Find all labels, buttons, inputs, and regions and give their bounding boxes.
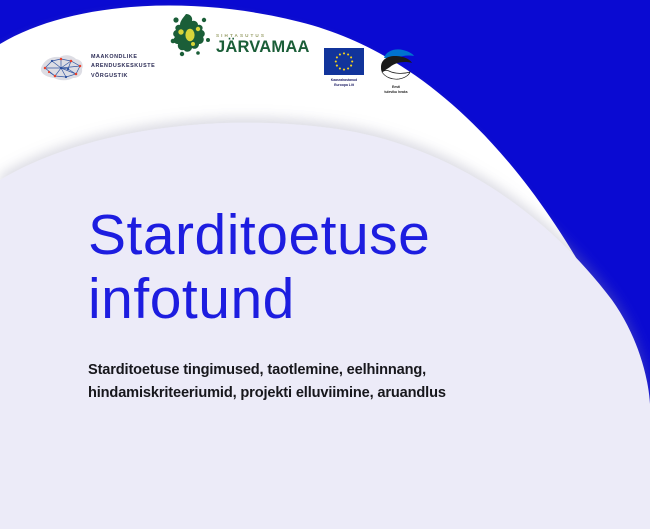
slide-headline: Starditoetuse infotund bbox=[88, 204, 558, 332]
eu-funding-logo: Kaasrahastanud Euroopa Liit bbox=[324, 48, 364, 88]
european-union-flag-icon bbox=[324, 48, 364, 75]
slide-subheadline: Starditoetuse tingimused, taotlemine, ee… bbox=[88, 359, 558, 405]
estonia-network-map-icon bbox=[38, 49, 86, 85]
title-slide: MAAKONDLIKE ARENDUSKESKUSTE VÕRGUSTIK bbox=[0, 0, 650, 529]
estonia-funding-logo: Eesti tuleviku heaks bbox=[376, 48, 416, 95]
jarvamaa-wordmark: SIHTASUTUS JÄRVAMAA bbox=[216, 9, 310, 58]
jarvamaa-logo: SIHTASUTUS JÄRVAMAA bbox=[168, 9, 310, 58]
estonia-funding-caption: Eesti tuleviku heaks bbox=[384, 85, 407, 95]
funding-logos: Kaasrahastanud Euroopa Liit Eesti tulevi… bbox=[324, 48, 416, 95]
estonia-flag-swoosh-icon bbox=[376, 48, 416, 82]
partner-logo-strip: MAAKONDLIKE ARENDUSKESKUSTE VÕRGUSTIK bbox=[0, 0, 650, 110]
jarvamaa-eyebrow: SIHTASUTUS bbox=[216, 33, 310, 38]
mak-logo: MAAKONDLIKE ARENDUSKESKUSTE VÕRGUSTIK bbox=[38, 49, 155, 85]
eu-funding-caption: Kaasrahastanud Euroopa Liit bbox=[331, 78, 357, 88]
jarvamaa-name: JÄRVAMAA bbox=[216, 39, 310, 56]
jarvamaa-floral-icon bbox=[168, 11, 214, 57]
mak-logo-text: MAAKONDLIKE ARENDUSKESKUSTE VÕRGUSTIK bbox=[91, 53, 155, 81]
